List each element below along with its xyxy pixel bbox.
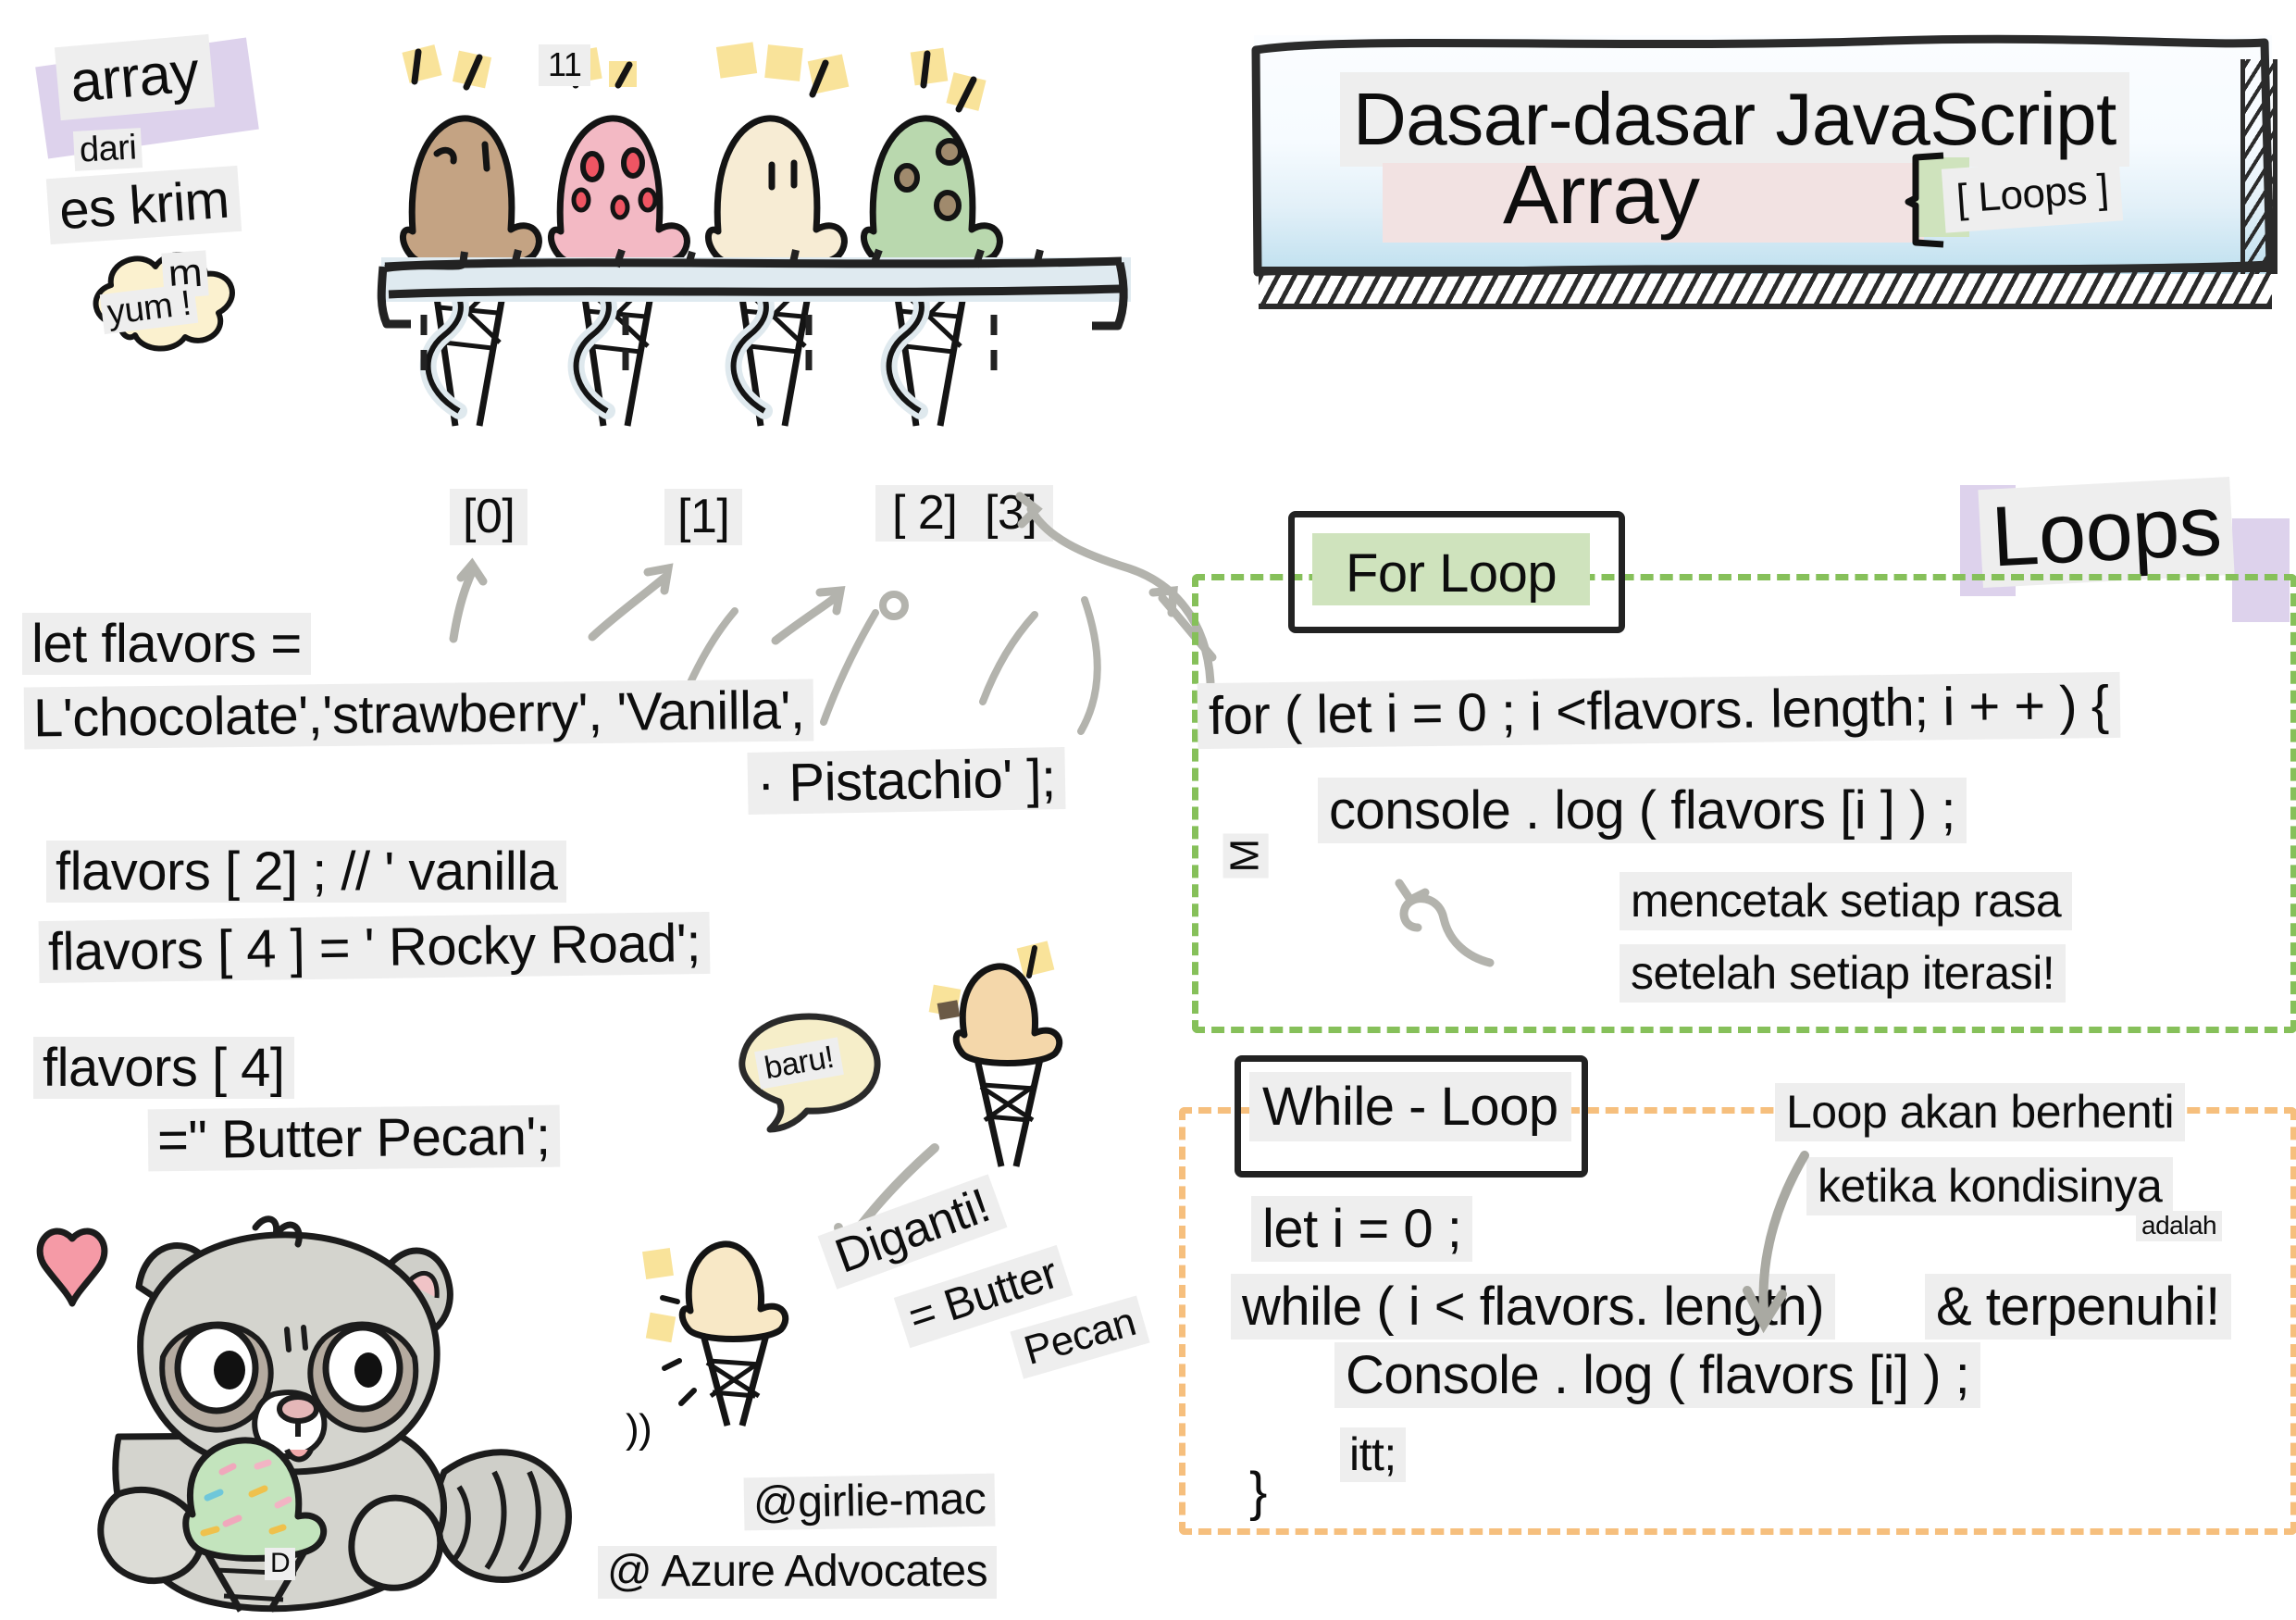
while-loop-code-init: let i = 0 ; <box>1251 1196 1472 1262</box>
board-heading: Dasar-dasar JavaScript <box>1340 72 2129 167</box>
code-line-assign-rocky: flavors [ 4 ] = ' Rocky Road'; <box>39 912 711 983</box>
code-line-flavors4: flavors [ 4] <box>33 1037 294 1099</box>
while-loop-annotation-arrow-icon <box>1703 1148 1851 1352</box>
for-loop-annotation-1: mencetak setiap rasa <box>1620 872 2072 930</box>
for-loop-code-header: for ( let i = 0 ; i <flavors. length; i … <box>1198 672 2120 749</box>
while-loop-annotation-4: & terpenuhi! <box>1925 1274 2231 1340</box>
for-loop-code-body: console . log ( flavors [i ] ) ; <box>1318 778 1967 843</box>
raccoon-mark-label: D <box>265 1548 295 1580</box>
ice-cream-row-icon <box>370 37 1203 426</box>
code-line-access-2: flavors [ 2] ; // ' vanilla <box>46 841 566 903</box>
note-parens: )) <box>620 1407 657 1452</box>
while-loop-code-body: Console . log ( flavors [i] ) ; <box>1334 1342 1980 1408</box>
board-subject: Array <box>1497 152 1706 241</box>
while-loop-annotation-2: ketika kondisinya <box>1806 1157 2173 1215</box>
for-loop-annotation-2: setelah setiap iterasi! <box>1620 944 2066 1003</box>
topic-word-eskrim: es krim <box>46 166 242 244</box>
topic-word-array: array <box>55 34 215 120</box>
code-line-butter-pecan: =" Butter Pecan'; <box>148 1105 560 1172</box>
while-loop-label-box <box>1235 1055 1588 1178</box>
code-line-values: L'chocolate','strawberry', 'Vanilla', <box>24 679 814 750</box>
while-loop-annotation-1: Loop akan berhenti <box>1775 1083 2185 1141</box>
replaced-cone-icon <box>639 1222 824 1435</box>
while-loop-closing-brace: } <box>1244 1463 1272 1521</box>
for-loop-closing-brace: M <box>1223 833 1269 878</box>
code-line-declare: let flavors = <box>22 613 311 675</box>
raccoon-icon <box>9 1194 583 1620</box>
board-edge-hatch-icon <box>2240 59 2277 274</box>
credit-author: @girlie-mac <box>744 1474 996 1531</box>
loops-bracket-label: [ Loops ] <box>1942 156 2124 232</box>
array-shelf-icon <box>374 246 1142 357</box>
code-line-pistachio: · Pistachio' ]; <box>747 747 1065 815</box>
for-loop-label: For Loop <box>1340 544 1562 603</box>
topic-word-dari: dari <box>73 128 143 171</box>
for-loop-annotation-arrow-icon <box>1370 861 1527 981</box>
sprinkle-count-label: 11 <box>539 44 590 86</box>
board-base-hatch-icon <box>1259 267 2272 309</box>
credit-org: @ Azure Advocates <box>598 1546 997 1599</box>
sketchnote-canvas: Dasar-dasar JavaScript Array [ Loops ] a… <box>0 0 2296 1619</box>
loops-section-title: Loops <box>1978 477 2234 588</box>
while-loop-annotation-3: adalah <box>2136 1211 2222 1241</box>
while-loop-code-increment: itt; <box>1340 1427 1406 1482</box>
